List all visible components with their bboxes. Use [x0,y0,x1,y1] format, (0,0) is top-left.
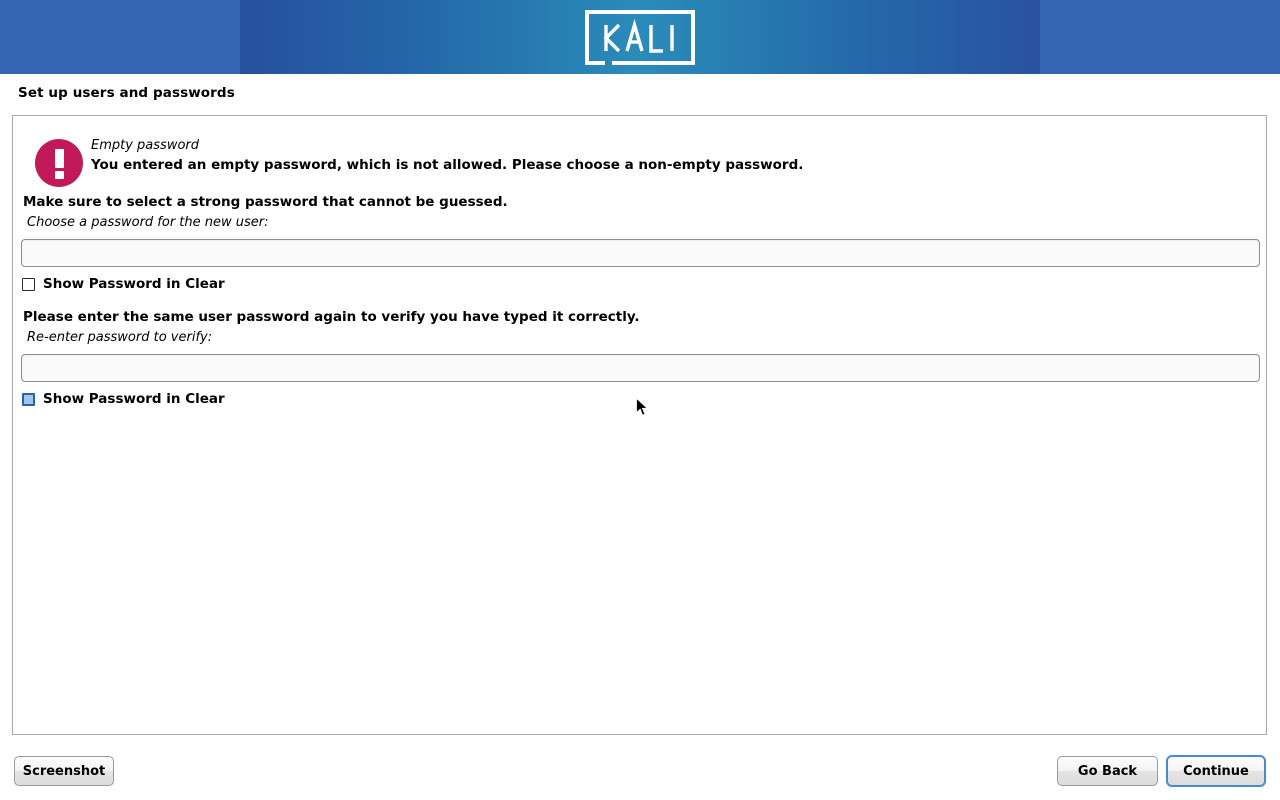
password-verify-input[interactable] [21,354,1260,382]
show-password-in-clear-row-1[interactable]: Show Password in Clear [22,276,225,292]
exclamation-bar [55,149,64,168]
password-input[interactable] [21,239,1260,267]
password-verify-hint: Please enter the same user password agai… [23,309,640,325]
kali-logo-icon [583,8,697,67]
page-title: Set up users and passwords [18,85,235,101]
show-password-checkbox-2-label: Show Password in Clear [43,391,225,407]
show-password-checkbox-1[interactable] [22,278,35,291]
error-exclamation-icon [35,139,83,187]
installer-window: Set up users and passwords Empty passwor… [0,0,1280,800]
password-verify-field-label: Re-enter password to verify: [27,330,212,345]
error-title: Empty password [91,138,199,153]
error-message: You entered an empty password, which is … [91,157,803,173]
screenshot-button[interactable]: Screenshot [14,756,114,786]
password-strength-hint: Make sure to select a strong password th… [23,194,508,210]
exclamation-dot [55,171,64,179]
go-back-button[interactable]: Go Back [1057,756,1158,786]
password-field-label: Choose a password for the new user: [27,215,269,230]
show-password-checkbox-2[interactable] [22,393,35,406]
continue-button[interactable]: Continue [1166,755,1266,787]
header-banner [0,0,1280,74]
content-panel: Empty password You entered an empty pass… [12,115,1267,735]
show-password-in-clear-row-2[interactable]: Show Password in Clear [22,391,225,407]
show-password-checkbox-1-label: Show Password in Clear [43,276,225,292]
